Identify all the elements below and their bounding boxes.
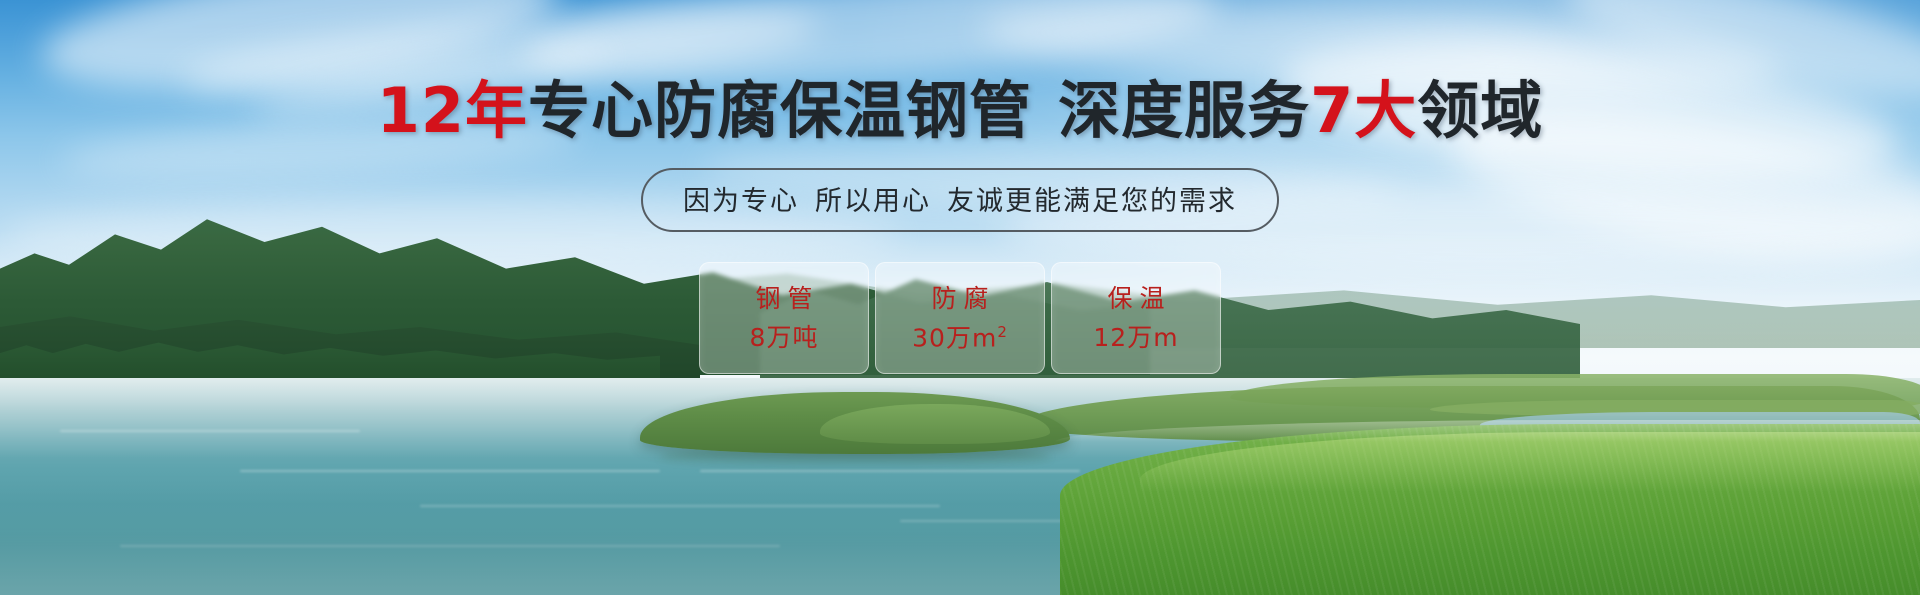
banner-headline: 12年专心防腐保温钢管深度服务7大领域 [0, 80, 1920, 142]
subtitle-part-3: 友诚更能满足您的需求 [947, 186, 1237, 217]
headline-service-text: 深度服务 [1058, 74, 1310, 147]
stat-value-superscript: 2 [997, 323, 1008, 341]
headline-years-unit: 年 [465, 74, 528, 147]
stat-value: 12万m [1093, 325, 1178, 350]
stat-value-text: 30万m [912, 323, 997, 352]
stat-card-group: 钢管 8万吨 防腐 30万m2 保温 12万m [699, 262, 1221, 374]
stat-label: 钢管 [748, 286, 819, 311]
stat-value: 8万吨 [750, 325, 819, 350]
stat-label: 保温 [1100, 286, 1171, 311]
promo-banner: 12年专心防腐保温钢管深度服务7大领域 因为专心所以用心友诚更能满足您的需求 钢… [0, 0, 1920, 595]
stat-card-steel-pipe: 钢管 8万吨 [699, 262, 869, 374]
banner-subtitle-pill: 因为专心所以用心友诚更能满足您的需求 [641, 168, 1279, 232]
stat-label: 防腐 [924, 286, 995, 311]
stat-card-anticorrosion: 防腐 30万m2 [875, 262, 1045, 374]
stat-value-text: 12万m [1093, 323, 1178, 352]
subtitle-part-1: 因为专心 [683, 186, 799, 217]
subtitle-part-2: 所以用心 [815, 186, 931, 217]
headline-fields-unit: 大 [1354, 74, 1417, 147]
headline-main-text: 专心防腐保温钢管 [528, 74, 1032, 147]
headline-fields-number: 7 [1310, 74, 1354, 147]
stat-value-text: 8万吨 [750, 323, 819, 352]
stat-value: 30万m2 [912, 325, 1008, 350]
stat-card-insulation: 保温 12万m [1051, 262, 1221, 374]
headline-fields-text: 领域 [1417, 74, 1543, 147]
headline-years-number: 12 [377, 74, 465, 147]
